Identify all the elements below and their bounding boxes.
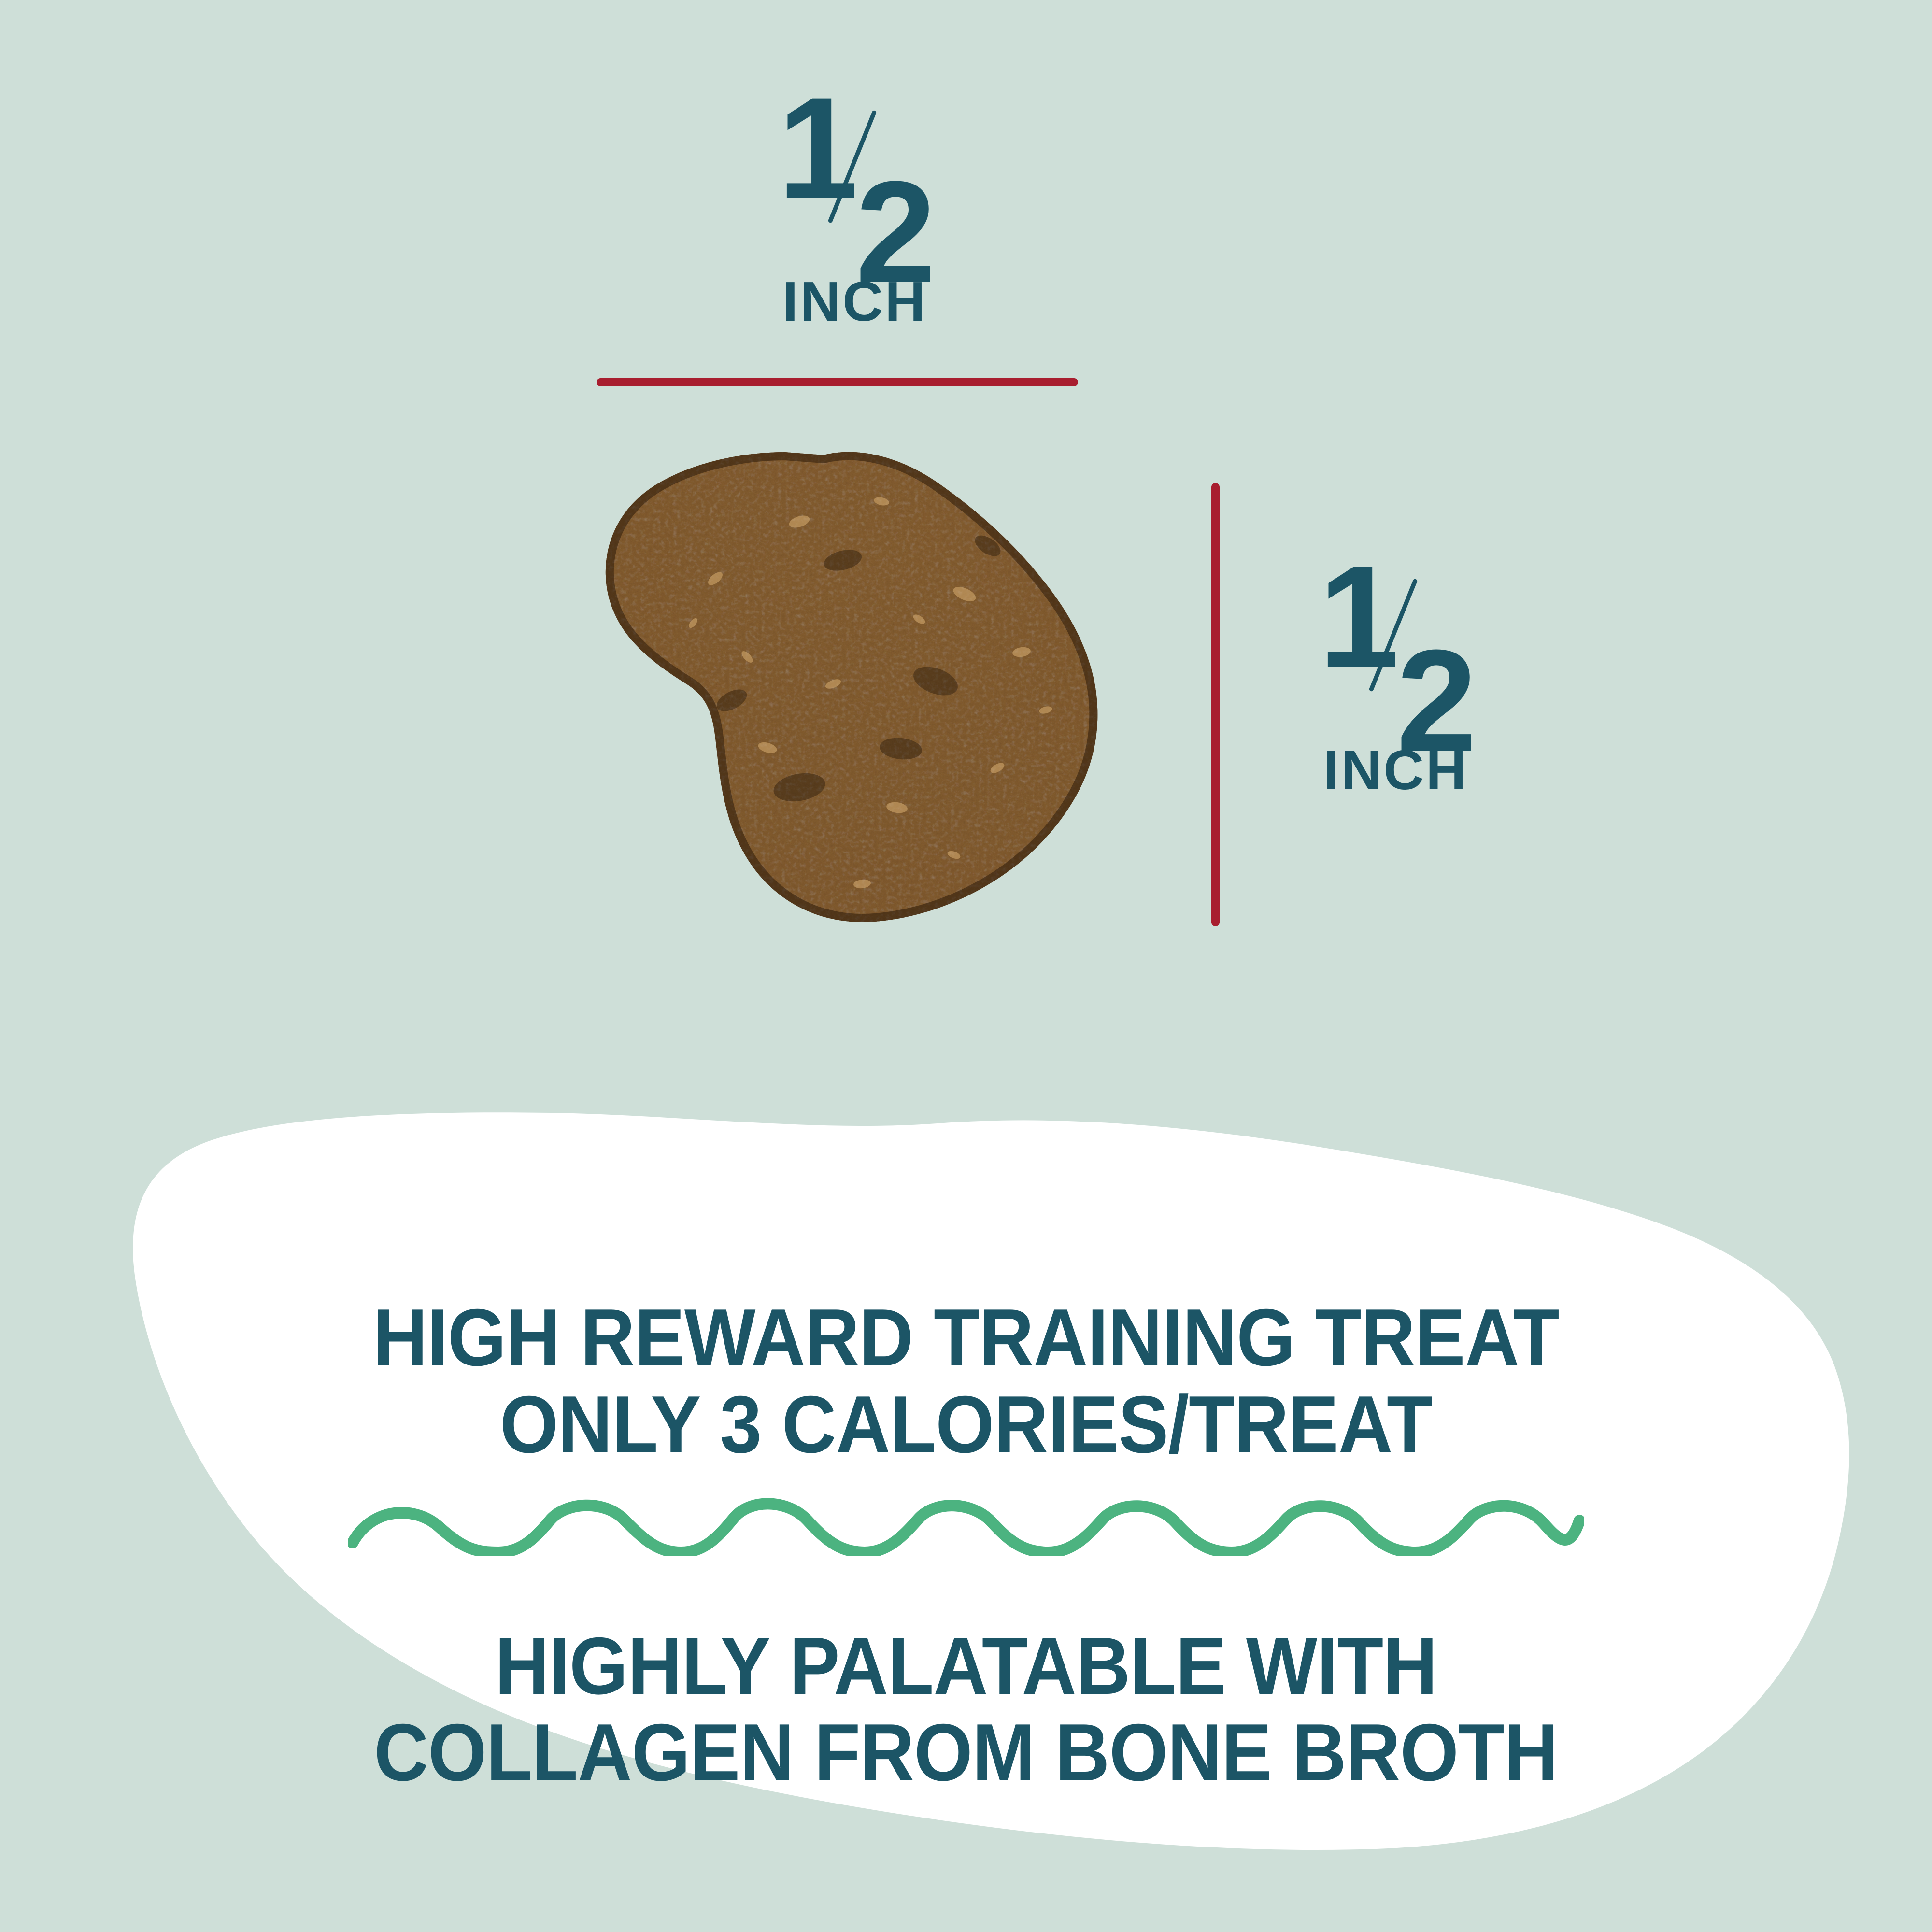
unit-label-inch-right: INCH <box>1285 742 1507 798</box>
top-measurement-label: 1 2 INCH <box>744 87 966 329</box>
dog-treat-kibble-image <box>572 449 1159 1000</box>
fraction-numerator: 1 <box>1319 544 1395 689</box>
fraction-one-half-top: 1 2 <box>778 87 932 261</box>
right-measurement-label: 1 2 INCH <box>1285 555 1507 798</box>
fraction-one-half-right: 1 2 <box>1319 555 1473 729</box>
claims-card-background <box>72 1101 1860 1855</box>
fraction-denominator: 2 <box>1396 628 1473 773</box>
fraction-numerator: 1 <box>778 75 854 220</box>
vertical-ruler-line <box>1211 483 1220 926</box>
infographic-canvas: 1 2 INCH <box>0 0 1932 1932</box>
horizontal-ruler-line <box>597 378 1078 386</box>
fraction-denominator: 2 <box>855 159 932 304</box>
unit-label-inch-top: INCH <box>744 273 966 329</box>
